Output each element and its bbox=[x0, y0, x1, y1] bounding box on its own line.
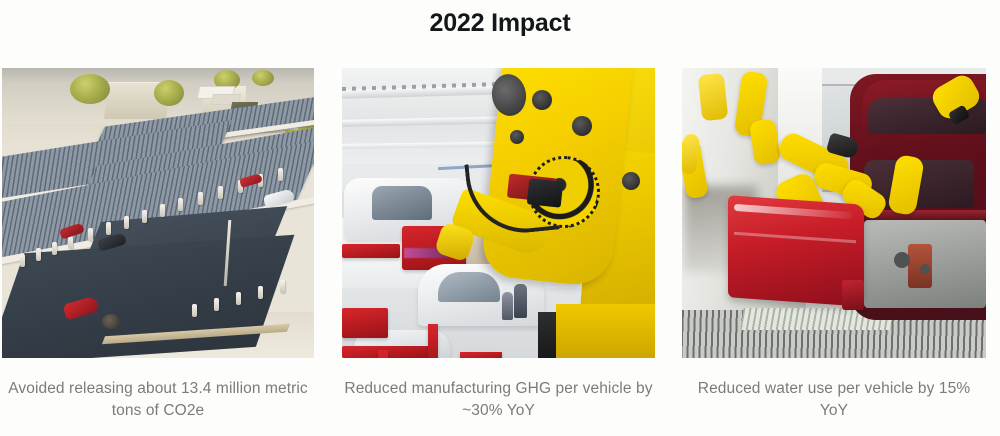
red-fixture bbox=[342, 308, 388, 338]
robot-base bbox=[556, 304, 655, 358]
supercharger-stall bbox=[160, 204, 165, 217]
supercharger-stall bbox=[106, 222, 111, 235]
supercharger-stall bbox=[88, 228, 93, 241]
supercharger-stall bbox=[68, 236, 73, 249]
supercharger-stall bbox=[52, 242, 57, 255]
red-fixture bbox=[378, 350, 388, 358]
robot-bolt bbox=[572, 116, 592, 136]
page-title: 2022 Impact bbox=[0, 8, 1000, 38]
robot-bolt bbox=[510, 130, 524, 144]
red-fixture bbox=[342, 244, 400, 258]
supercharger-stall bbox=[142, 210, 147, 223]
card-caption: Reduced manufacturing GHG per vehicle by… bbox=[342, 378, 655, 422]
dark-vehicle bbox=[102, 314, 120, 329]
interior-hole bbox=[894, 252, 910, 268]
supercharger-stall bbox=[236, 292, 241, 305]
supercharger-solar-photo bbox=[2, 68, 314, 358]
supercharger-stall bbox=[218, 186, 223, 199]
door-hinge-clip bbox=[842, 280, 864, 310]
robot-bolt bbox=[532, 90, 552, 110]
impact-card-water-use[interactable]: Reduced water use per vehicle by 15% YoY bbox=[682, 68, 986, 422]
supercharger-stall bbox=[192, 304, 197, 317]
robot-bolt bbox=[622, 172, 640, 190]
supercharger-stall bbox=[198, 192, 203, 205]
supercharger-stall bbox=[280, 280, 285, 293]
factory-worker bbox=[514, 284, 527, 318]
paint-shop-photo bbox=[682, 68, 986, 358]
red-fixture bbox=[428, 324, 438, 358]
car-window bbox=[372, 186, 432, 220]
interior-hole bbox=[920, 264, 930, 274]
tree bbox=[70, 74, 110, 104]
supercharger-stall bbox=[20, 254, 25, 267]
impact-card-emissions-avoided[interactable]: Avoided releasing about 13.4 million met… bbox=[2, 68, 314, 422]
supercharger-stall bbox=[214, 298, 219, 311]
red-fixture bbox=[342, 346, 434, 358]
red-fixture bbox=[460, 352, 502, 358]
supercharger-stall bbox=[278, 168, 283, 181]
factory-worker bbox=[502, 292, 513, 320]
card-caption: Reduced water use per vehicle by 15% YoY bbox=[682, 378, 986, 422]
supercharger-stall bbox=[258, 286, 263, 299]
impact-cards-row: Avoided releasing about 13.4 million met… bbox=[0, 68, 1000, 428]
impact-card-manufacturing-ghg[interactable]: Reduced manufacturing GHG per vehicle by… bbox=[342, 68, 655, 422]
tree bbox=[252, 70, 274, 86]
car-window bbox=[438, 272, 500, 302]
card-caption: Avoided releasing about 13.4 million met… bbox=[2, 378, 314, 422]
factory-robot-photo bbox=[342, 68, 655, 358]
supercharger-stall bbox=[178, 198, 183, 211]
supercharger-stall bbox=[124, 216, 129, 229]
tree bbox=[154, 80, 184, 106]
yellow-glove bbox=[698, 73, 729, 121]
supercharger-stall bbox=[36, 248, 41, 261]
